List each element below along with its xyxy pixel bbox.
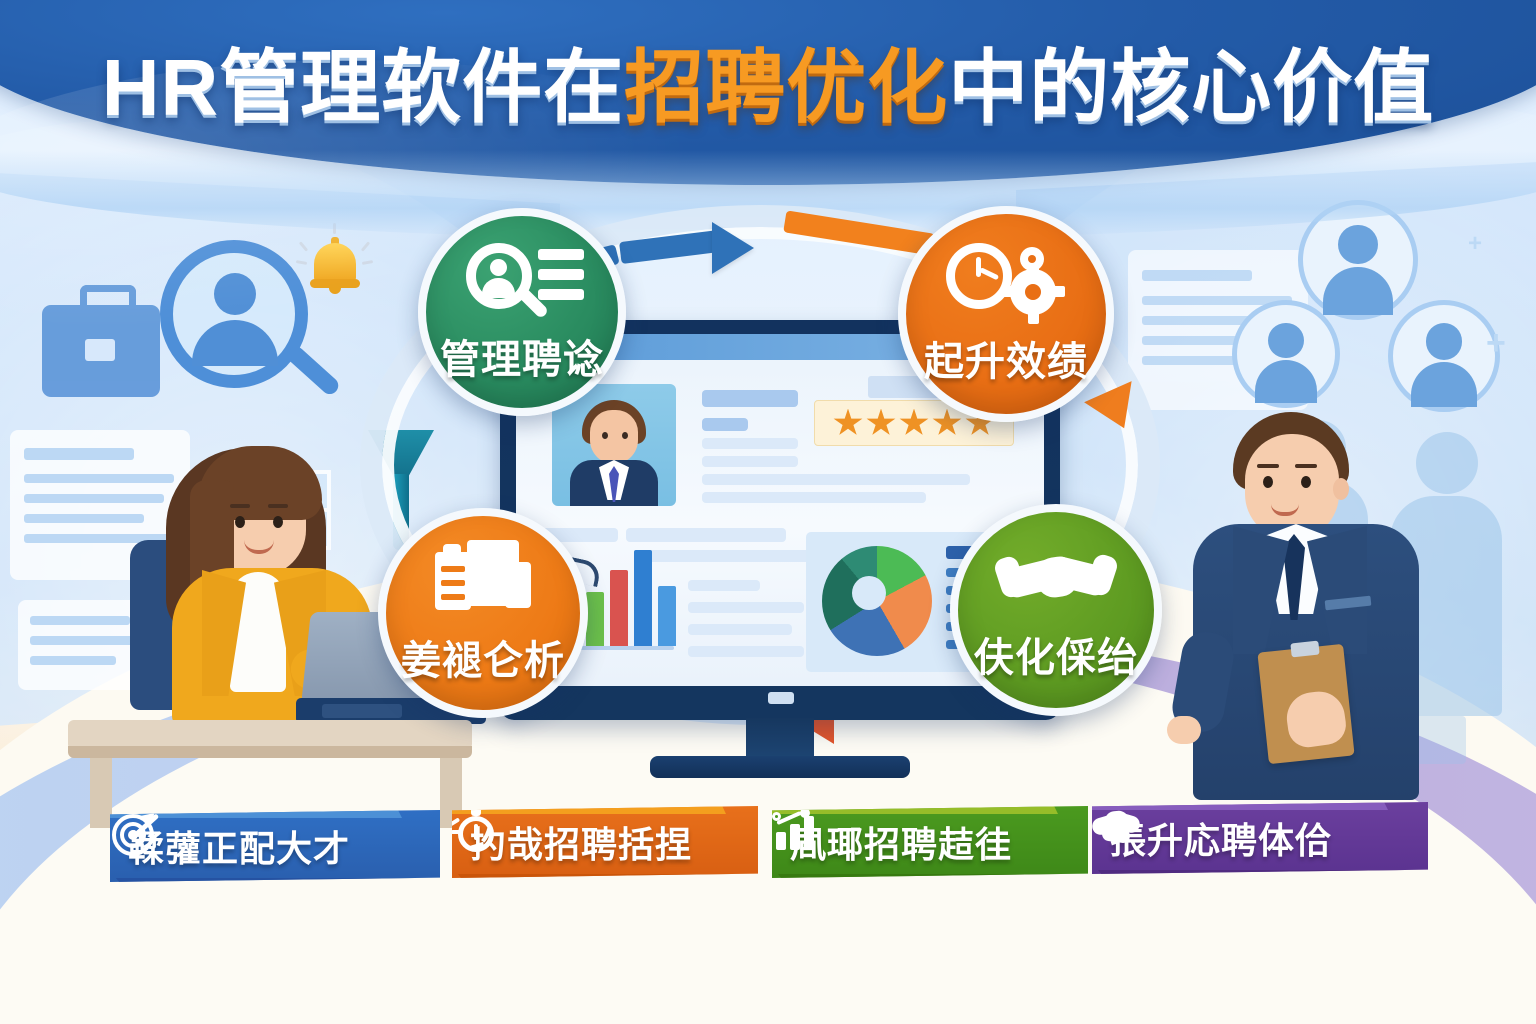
infographic-poster: + + HR管理软件在招聘优化中的核心价值 xyxy=(0,0,1536,1024)
ribbon-foot xyxy=(778,874,1082,892)
star-icon xyxy=(899,409,929,438)
monitor-base xyxy=(650,756,910,778)
star-icon xyxy=(932,409,962,438)
handshake-icon xyxy=(994,537,1118,623)
badge-label: 伕化倸绐 xyxy=(974,625,1138,683)
badge-label: 起升效绩 xyxy=(924,329,1088,387)
ribbon-lower-cost[interactable]: 凮瑘招聘趌徍 xyxy=(772,806,1088,878)
ribbon-label: 凮瑘招聘趌徍 xyxy=(790,816,1012,868)
handshake-icon xyxy=(1092,802,1140,850)
title-segment-3: 中的核心价值 xyxy=(948,43,1434,132)
magnifier-person-list-icon xyxy=(460,239,584,325)
badge-label: 姜褪仑析 xyxy=(401,628,565,686)
ribbon-match-talent[interactable]: 鞣虇正配大才 xyxy=(110,810,440,882)
bar xyxy=(634,550,652,646)
candidate-man xyxy=(1175,400,1475,800)
bar xyxy=(610,570,628,646)
bar-chart-up-icon xyxy=(772,806,820,854)
star-icon xyxy=(833,409,863,438)
stopwatch-icon xyxy=(452,806,500,854)
target-dart-icon xyxy=(110,810,158,858)
badge-efficiency[interactable]: 起升效绩 xyxy=(898,206,1114,422)
avatar-circle-icon xyxy=(1388,300,1500,412)
star-icon xyxy=(866,409,896,438)
badge-screening[interactable]: 管理聘谂 xyxy=(418,208,626,416)
ribbon-label: 扚哉招聘括捏 xyxy=(470,816,692,868)
arrow-top-right-icon xyxy=(712,222,754,274)
ribbon-boost-candidate[interactable]: 掁升応聘体佮 xyxy=(1092,802,1428,874)
badge-analytics[interactable]: 姜褪仑析 xyxy=(378,508,588,718)
page-title: HR管理软件在招聘优化中的核心价值 xyxy=(0,44,1536,132)
monitor-power-button[interactable] xyxy=(768,692,794,704)
title-segment-1: HR管理软件在 xyxy=(102,43,625,132)
badge-experience[interactable]: 伕化倸绐 xyxy=(950,504,1162,716)
ribbon-label: 鞣虇正配大才 xyxy=(128,820,350,872)
ribbon-label: 掁升応聘体佮 xyxy=(1110,812,1332,864)
plus-icon: + xyxy=(1486,326,1506,360)
badge-label: 管理聘谂 xyxy=(440,327,604,385)
ribbon-foot xyxy=(458,874,752,892)
ribbon-foot xyxy=(1098,870,1422,888)
ribbon-foot xyxy=(116,878,434,896)
monitor-stand xyxy=(746,718,814,760)
avatar-circle-icon xyxy=(1232,300,1340,408)
bar xyxy=(586,592,604,646)
clock-gear-icon xyxy=(944,241,1068,327)
bar xyxy=(658,586,676,646)
plus-icon: + xyxy=(1468,232,1482,256)
documents-magnifier-icon xyxy=(421,540,545,626)
title-segment-accent: 招聘优化 xyxy=(624,43,948,132)
ribbon-speed-process[interactable]: 扚哉招聘括捏 xyxy=(452,806,758,878)
